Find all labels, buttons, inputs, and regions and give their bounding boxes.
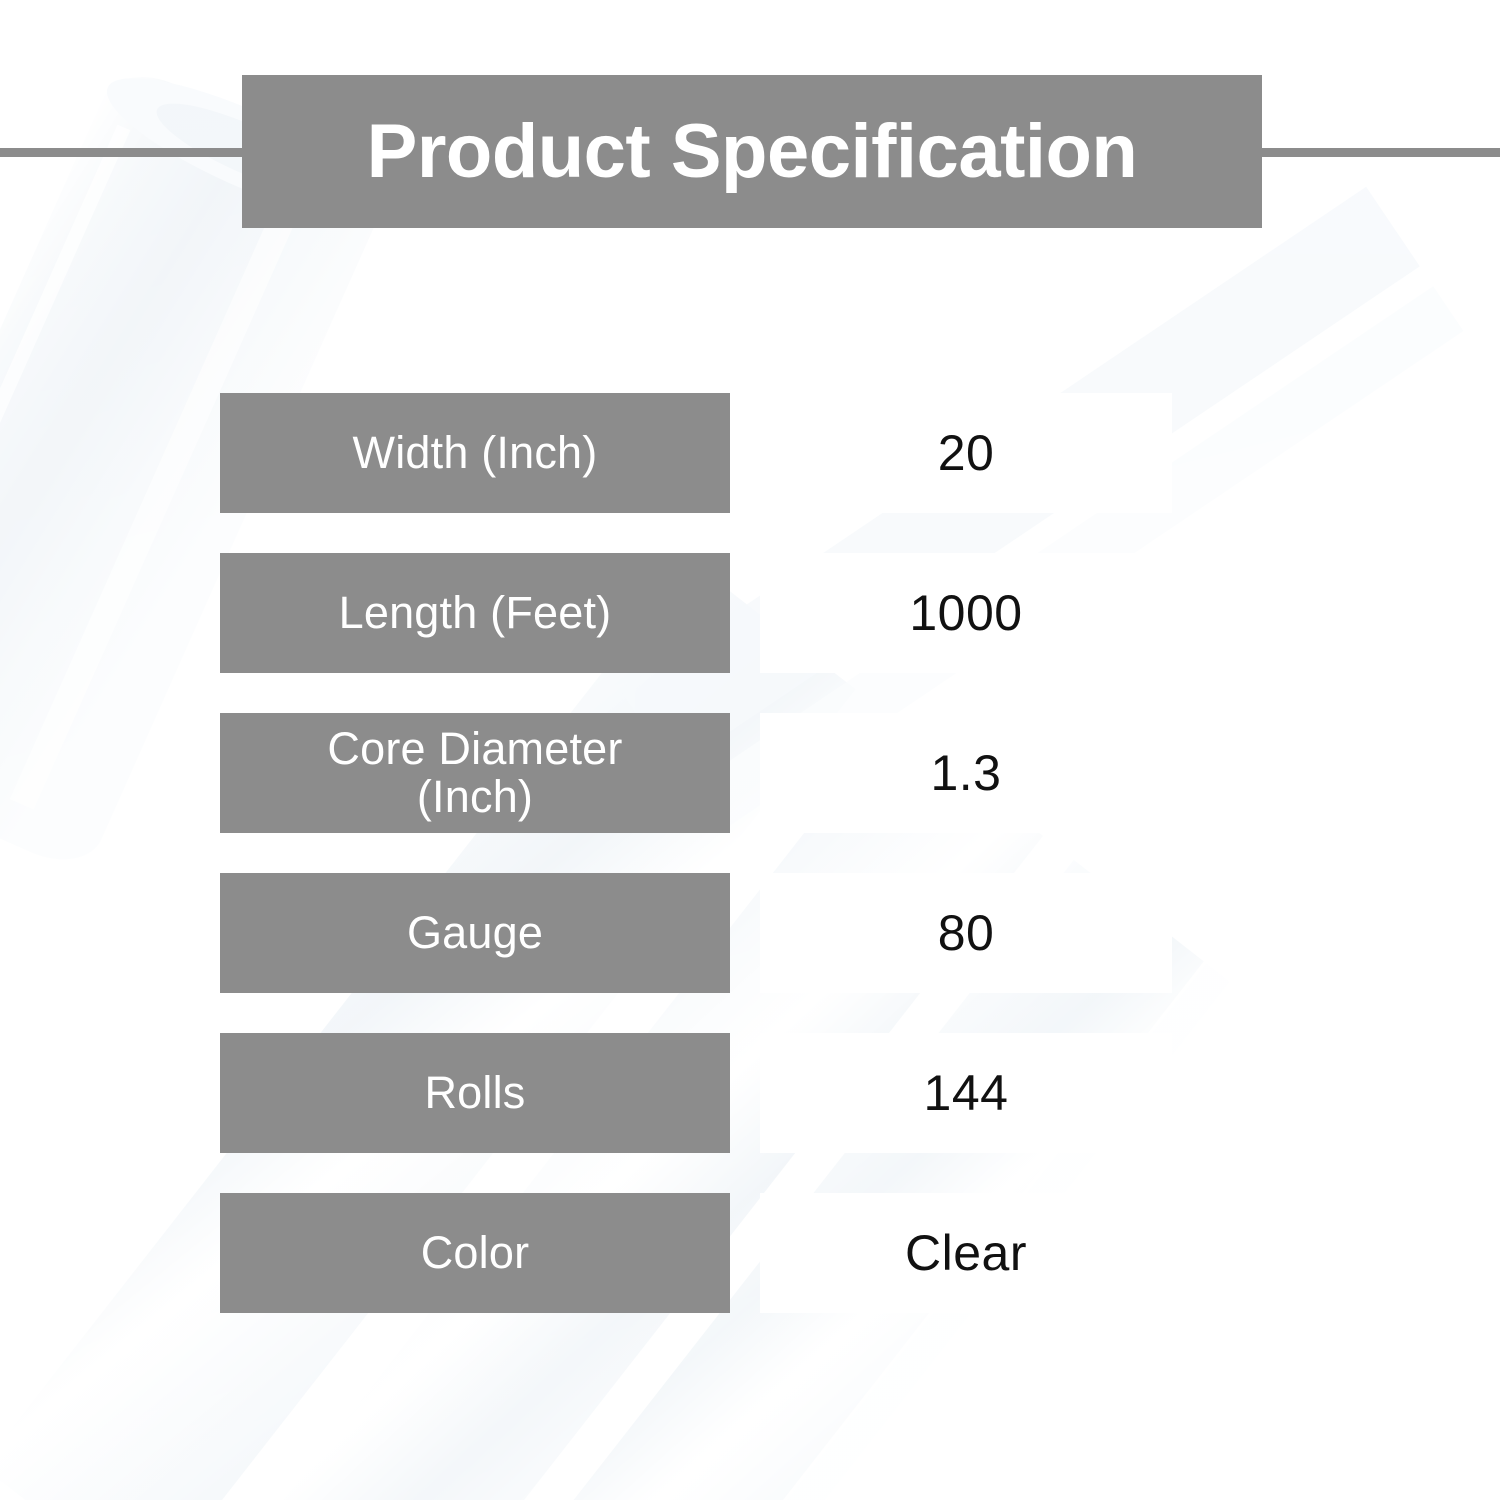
table-row: Gauge 80 [0,873,1500,993]
spec-value-cell: 1000 [760,553,1172,673]
spec-value-cell: 1.3 [760,713,1172,833]
spec-value-text: 1000 [909,588,1022,638]
spec-value-text: 80 [938,908,995,958]
spec-label-text: Width (Inch) [353,429,598,477]
spec-value-cell: Clear [760,1193,1172,1313]
spec-label-cell: Width (Inch) [220,393,730,513]
table-row: Color Clear [0,1193,1500,1313]
spec-value-cell: 144 [760,1033,1172,1153]
table-row: Width (Inch) 20 [0,393,1500,513]
spec-value-text: 144 [924,1068,1009,1118]
spec-label-text: Gauge [407,909,543,957]
spec-value-cell: 20 [760,393,1172,513]
spec-label-cell: Gauge [220,873,730,993]
table-row: Rolls 144 [0,1033,1500,1153]
page-title-banner: Product Specification [242,75,1262,228]
spec-label-cell: Core Diameter (Inch) [220,713,730,833]
spec-value-cell: 80 [760,873,1172,993]
table-row: Length (Feet) 1000 [0,553,1500,673]
page-title: Product Specification [367,114,1138,190]
spec-value-text: 20 [938,428,995,478]
spec-label-cell: Color [220,1193,730,1313]
spec-label-cell: Length (Feet) [220,553,730,673]
spec-label-text: Core Diameter (Inch) [327,725,622,820]
spec-label-text: Color [421,1229,530,1277]
spec-value-text: Clear [905,1228,1027,1278]
spec-label-cell: Rolls [220,1033,730,1153]
spec-label-text: Length (Feet) [339,589,612,637]
table-row: Core Diameter (Inch) 1.3 [0,713,1500,833]
spec-value-text: 1.3 [930,748,1001,798]
spec-label-text: Rolls [424,1069,525,1117]
